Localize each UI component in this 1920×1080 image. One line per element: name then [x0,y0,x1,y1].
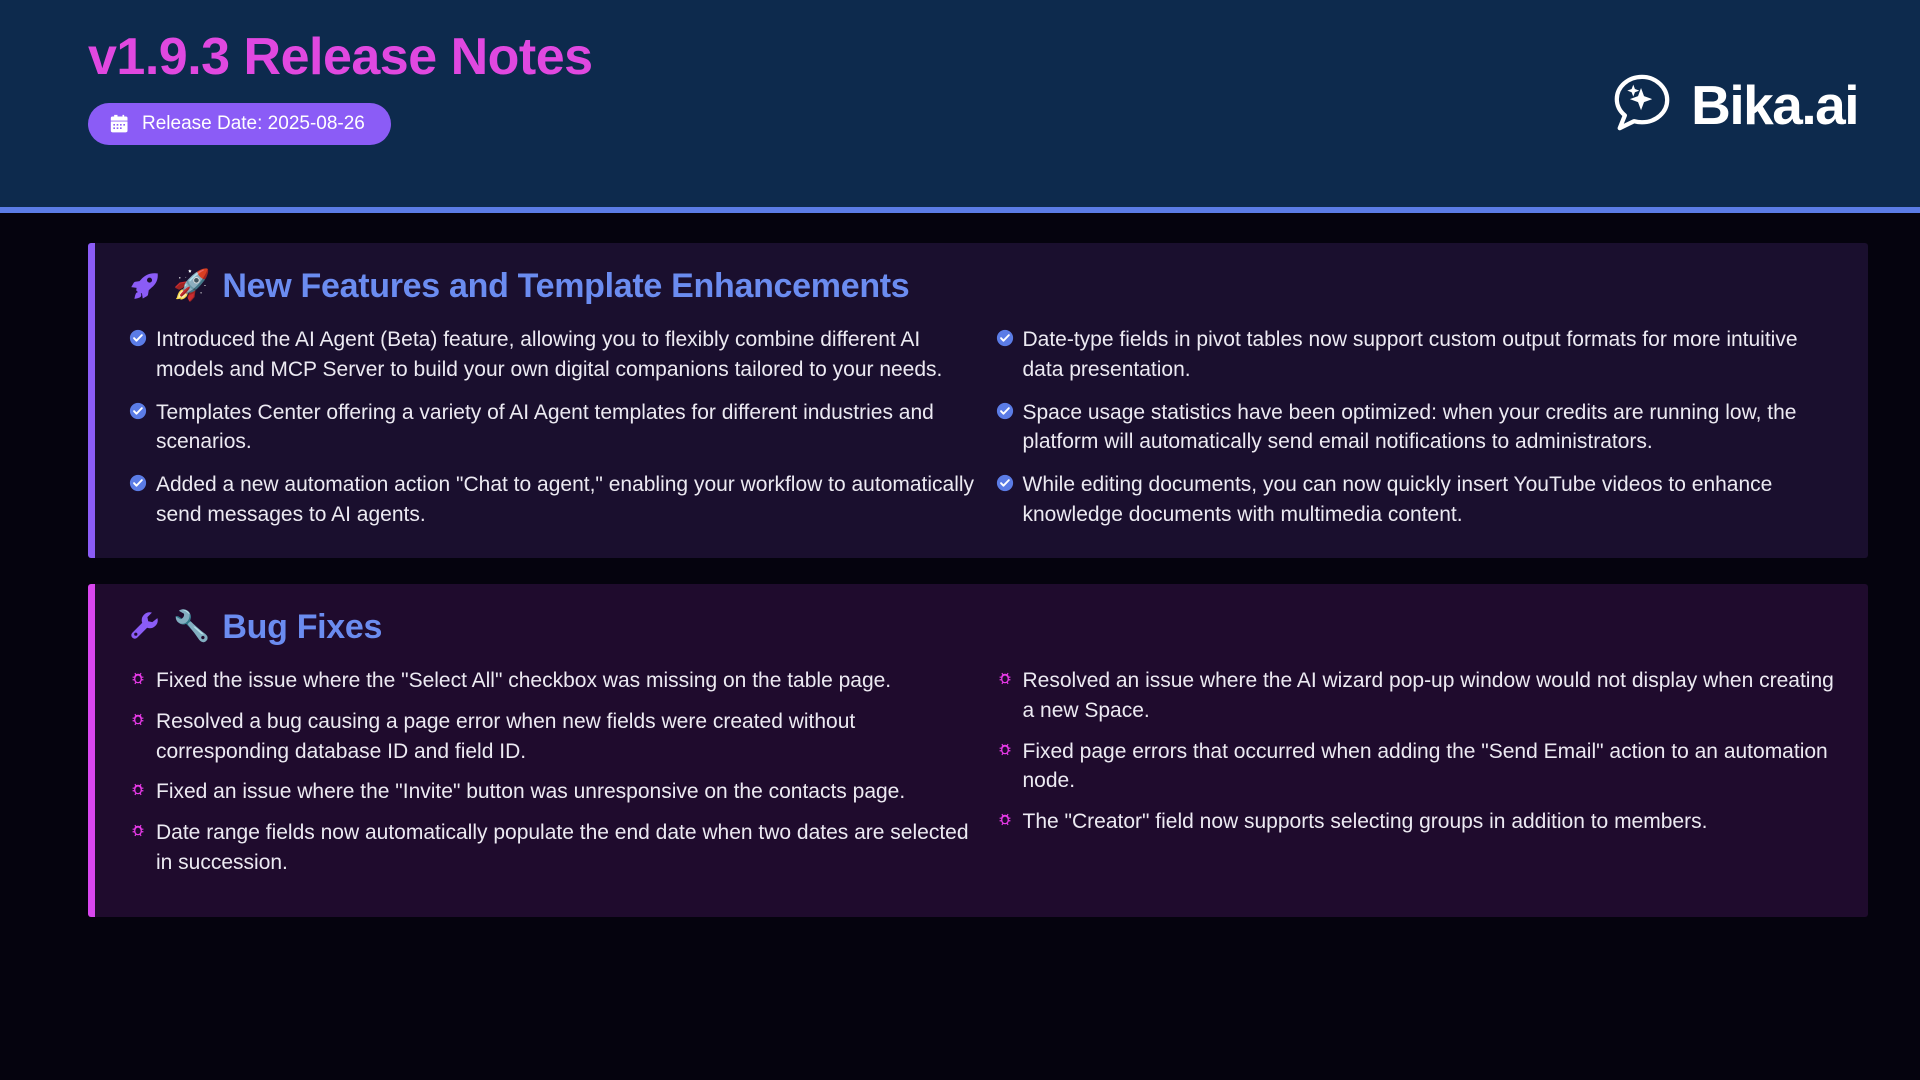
release-date-label: Release Date: 2025-08-26 [142,114,365,133]
list-item-text: Fixed the issue where the "Select All" c… [156,666,891,696]
section-header: 🔧 Bug Fixes [129,610,1838,644]
bug-icon [996,811,1014,829]
bika-sparkle-bubble-logo-icon [1611,72,1673,139]
bug-icon [996,670,1014,688]
check-circle-icon [996,402,1014,420]
bug-icon [129,711,147,729]
list-item: Date-type fields in pivot tables now sup… [996,325,1839,385]
list-item: Fixed an issue where the "Invite" button… [129,777,984,807]
feature-list-left: Introduced the AI Agent (Beta) feature, … [129,325,984,530]
list-item-text: Fixed page errors that occurred when add… [1023,737,1839,797]
list-item-text: Fixed an issue where the "Invite" button… [156,777,905,807]
list-item-text: Space usage statistics have been optimiz… [1023,398,1839,458]
list-item: Resolved an issue where the AI wizard po… [996,666,1839,726]
section-columns: Introduced the AI Agent (Beta) feature, … [129,325,1838,530]
check-circle-icon [996,329,1014,347]
release-notes-body: 🚀 New Features and Template Enhancements… [0,213,1920,917]
bug-icon [996,741,1014,759]
list-item-text: Date-type fields in pivot tables now sup… [1023,325,1839,385]
bug-icon [129,781,147,799]
section-header: 🚀 New Features and Template Enhancements [129,269,1838,303]
page-title: v1.9.3 Release Notes [88,30,593,85]
check-circle-icon [996,474,1014,492]
check-circle-icon [129,474,147,492]
section-columns: Fixed the issue where the "Select All" c… [129,666,1838,889]
list-item: Templates Center offering a variety of A… [129,398,984,458]
section-new-features: 🚀 New Features and Template Enhancements… [88,243,1868,558]
wrench-emoji-icon: 🔧 [173,612,210,642]
list-item-text: Templates Center offering a variety of A… [156,398,984,458]
brand-logo: Bika.ai [1611,72,1858,139]
list-item-text: Resolved an issue where the AI wizard po… [1023,666,1839,726]
list-item: While editing documents, you can now qui… [996,470,1839,530]
list-item: Introduced the AI Agent (Beta) feature, … [129,325,984,385]
page-header: v1.9.3 Release Notes Release Date: 2025-… [0,0,1920,213]
bugfix-list-left: Fixed the issue where the "Select All" c… [129,666,984,889]
calendar-icon [110,114,130,134]
list-item-text: Date range fields now automatically popu… [156,818,984,878]
release-date-badge: Release Date: 2025-08-26 [88,103,391,145]
bugfix-list-right: Resolved an issue where the AI wizard po… [984,666,1839,848]
list-item-text: The "Creator" field now supports selecti… [1023,807,1708,837]
wrench-icon [129,611,161,643]
section-title: New Features and Template Enhancements [222,269,909,303]
list-item: Added a new automation action "Chat to a… [129,470,984,530]
list-item-text: While editing documents, you can now qui… [1023,470,1839,530]
list-item: Space usage statistics have been optimiz… [996,398,1839,458]
brand-name: Bika.ai [1691,78,1858,133]
list-item: The "Creator" field now supports selecti… [996,807,1839,837]
feature-list-right: Date-type fields in pivot tables now sup… [984,325,1839,530]
list-item: Fixed the issue where the "Select All" c… [129,666,984,696]
list-item-text: Added a new automation action "Chat to a… [156,470,984,530]
list-item: Date range fields now automatically popu… [129,818,984,878]
bug-icon [129,670,147,688]
bug-icon [129,822,147,840]
section-bug-fixes: 🔧 Bug Fixes Fixed the issue where the "S… [88,584,1868,917]
rocket-icon [129,270,161,302]
header-left-group: v1.9.3 Release Notes Release Date: 2025-… [88,30,593,145]
rocket-emoji-icon: 🚀 [173,271,210,301]
list-item: Fixed page errors that occurred when add… [996,737,1839,797]
check-circle-icon [129,329,147,347]
list-item-text: Resolved a bug causing a page error when… [156,707,984,767]
list-item-text: Introduced the AI Agent (Beta) feature, … [156,325,984,385]
section-title: Bug Fixes [222,610,382,644]
list-item: Resolved a bug causing a page error when… [129,707,984,767]
check-circle-icon [129,402,147,420]
